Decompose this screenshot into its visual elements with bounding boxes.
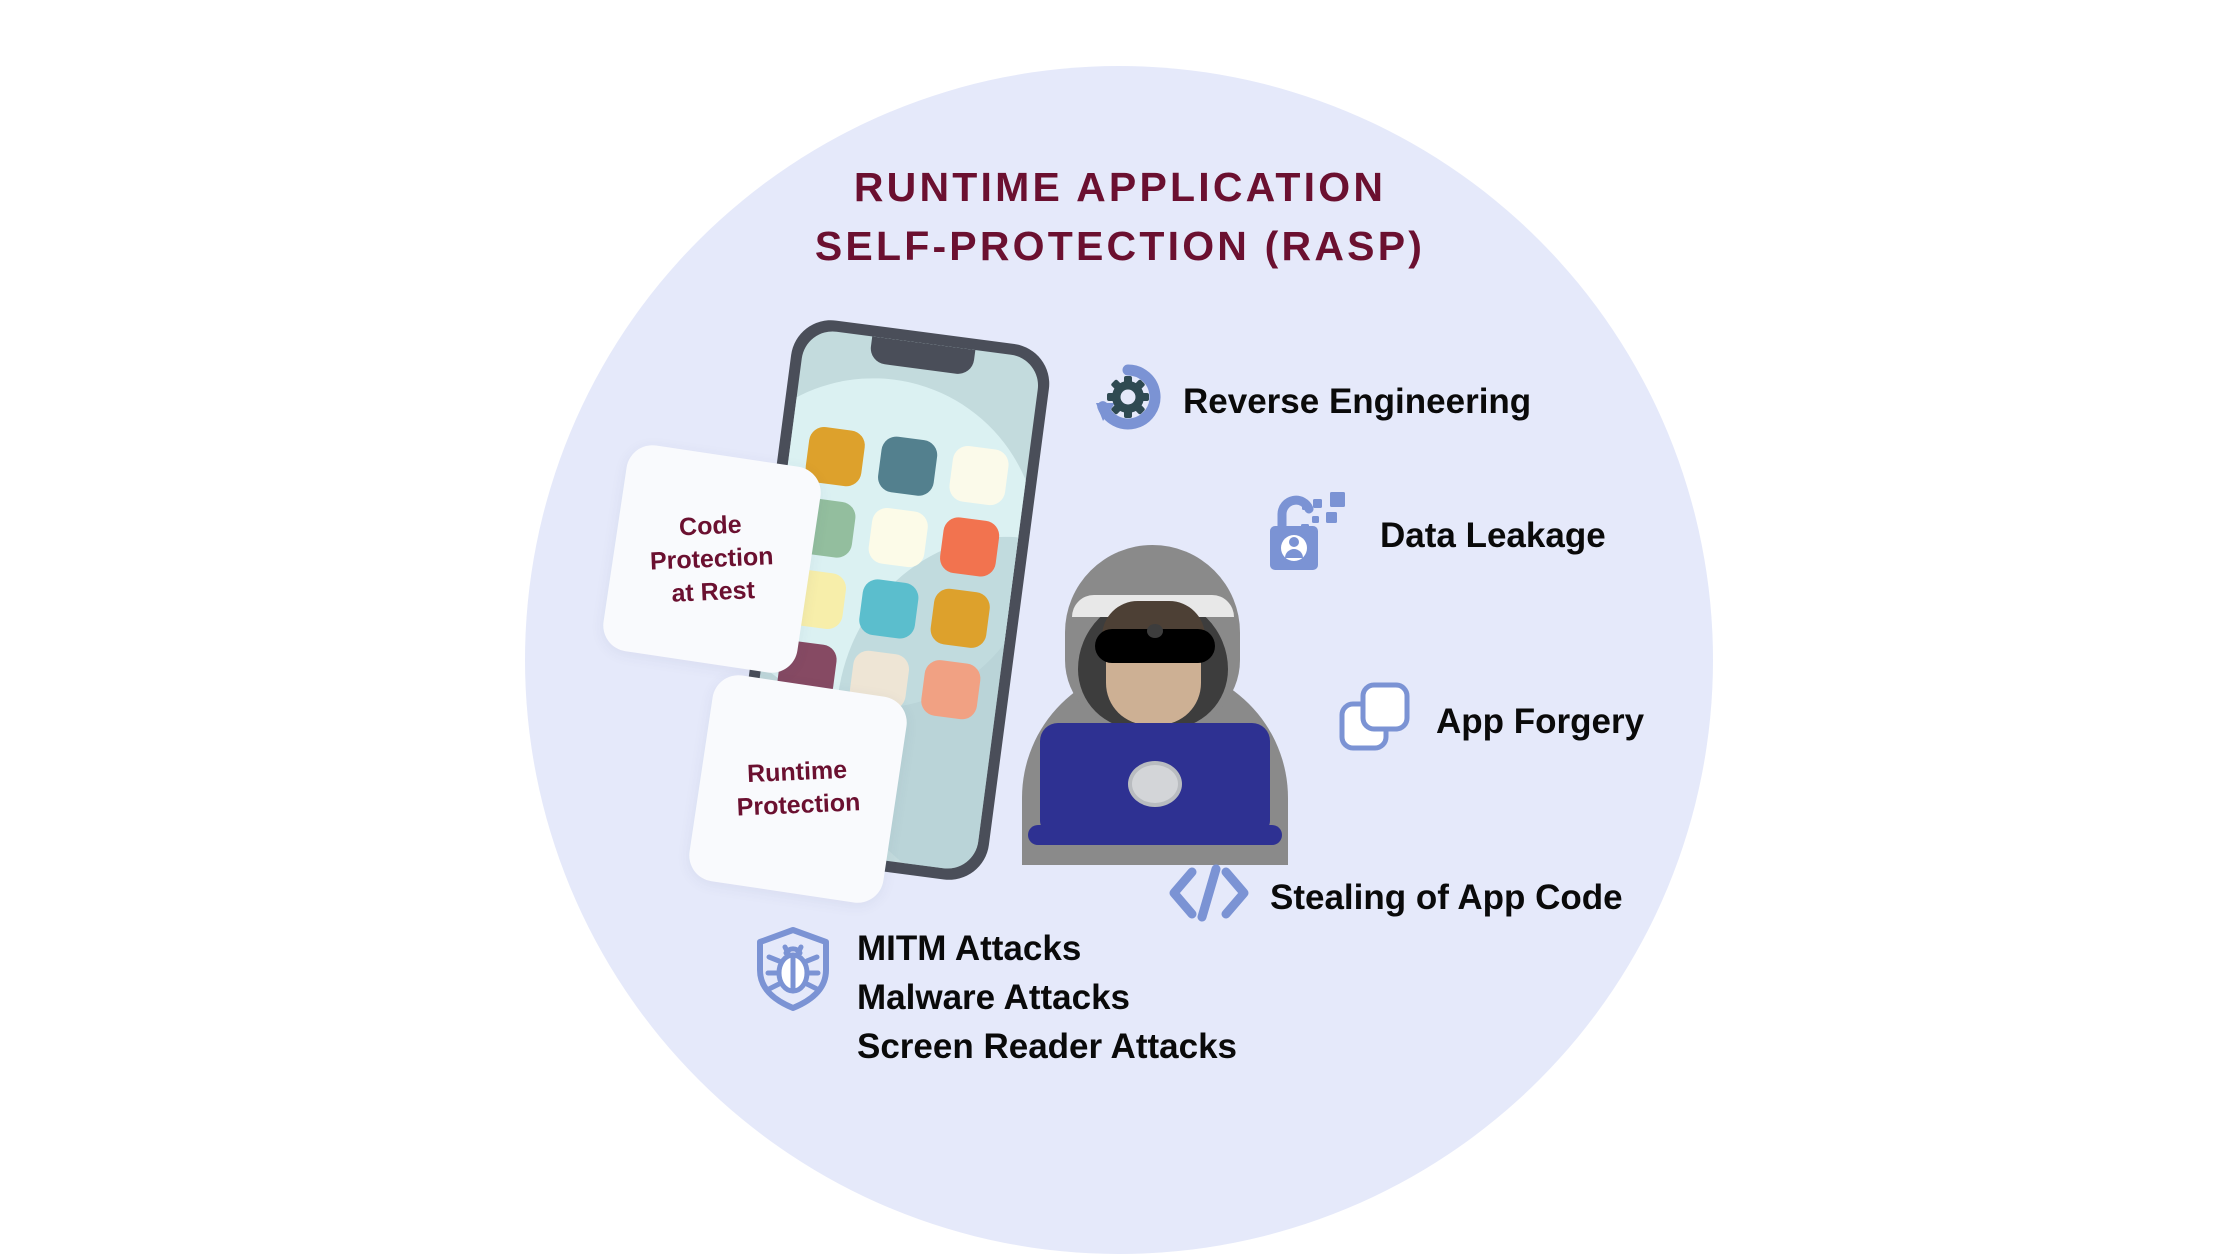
hacker-sunglasses [1095,629,1215,663]
duplicate-windows-icon [1338,680,1416,763]
protection-card-runtime[interactable]: Runtime Protection [686,672,911,907]
protection-card-code[interactable]: Code Protection at Rest [600,442,825,677]
attack-item: MITM Attacks [857,931,1237,968]
threat-label: Stealing of App Code [1270,878,1623,918]
attack-list: MITM Attacks Malware Attacks Screen Read… [857,925,1237,1065]
protection-card-runtime-label: Runtime Protection [735,753,861,824]
hacker-illustration [1010,545,1300,835]
open-padlock-icon [1268,490,1360,581]
page-title: RUNTIME APPLICATION SELF-PROTECTION (RAS… [700,158,1540,277]
laptop-base [1028,825,1282,845]
attack-group: MITM Attacks Malware Attacks Screen Read… [753,925,1237,1065]
reverse-engineering-icon [1093,362,1163,441]
app-icon[interactable] [939,516,1002,579]
attack-item: Screen Reader Attacks [857,1029,1237,1066]
title-line-1: RUNTIME APPLICATION [700,158,1540,217]
threat-reverse-engineering[interactable]: Reverse Engineering [1093,362,1531,441]
threat-label: Data Leakage [1380,516,1606,556]
infographic-canvas: RUNTIME APPLICATION SELF-PROTECTION (RAS… [0,0,2240,1260]
app-icon[interactable] [876,435,939,498]
threat-label: App Forgery [1436,702,1644,742]
card-line-1: Runtime [747,756,848,788]
app-icon[interactable] [866,506,929,569]
app-icon[interactable] [857,577,920,640]
threat-label: Reverse Engineering [1183,382,1531,422]
app-icon[interactable] [948,444,1011,507]
card-line-2: Protection [650,542,775,575]
protection-card-code-label: Code Protection at Rest [648,507,776,611]
code-brackets-icon [1168,862,1250,933]
threat-app-forgery[interactable]: App Forgery [1338,680,1644,763]
app-icon[interactable] [920,658,983,721]
attack-item: Malware Attacks [857,980,1237,1017]
app-icon[interactable] [929,587,992,650]
card-line-1: Code [679,510,743,541]
card-line-2: Protection [736,788,861,821]
laptop-logo [1128,761,1182,807]
shield-bug-icon [753,925,833,1016]
app-icon-grid [776,425,1012,721]
title-line-2: SELF-PROTECTION (RASP) [700,217,1540,276]
threat-data-leakage[interactable]: Data Leakage [1268,490,1606,581]
threat-stealing-app-code[interactable]: Stealing of App Code [1168,862,1623,933]
card-line-3: at Rest [671,576,756,608]
